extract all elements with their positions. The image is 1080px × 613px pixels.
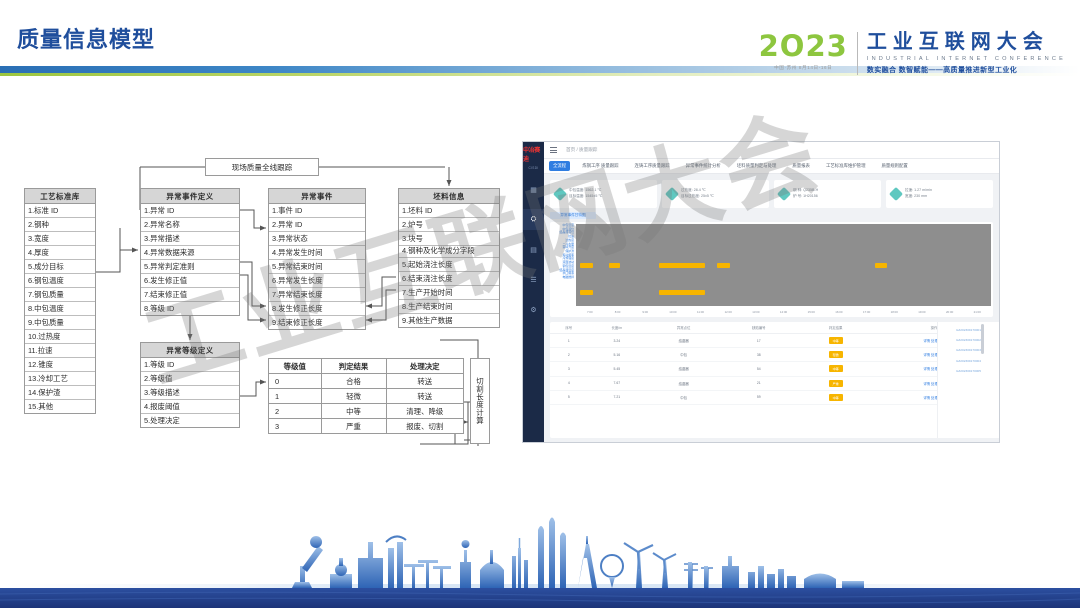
entity-process-standard-library: 工艺标准库 1.标准 ID 2.钢种 3.宽度 4.厚度 5.成分目标 6.钢包… bbox=[24, 188, 96, 414]
entity-row: 9.结束修正长度 bbox=[269, 316, 365, 329]
status-badge: 中等 bbox=[829, 365, 843, 372]
entity-row: 4.报废阈值 bbox=[141, 400, 239, 414]
logo-year-block: 2O23 中国·苏州 8月14日-16日 bbox=[759, 32, 857, 71]
list-item[interactable]: GZ202309170004 bbox=[940, 356, 997, 366]
page-title: 质量信息模型 bbox=[17, 22, 155, 54]
table-body: 13.24结晶器17中等详情 处理建议25.16中包38轻微详情 处理建议35.… bbox=[550, 334, 993, 405]
status-badge: 轻微 bbox=[829, 351, 843, 358]
cell-point: 结晶器 bbox=[646, 334, 721, 348]
cell-code: 54 bbox=[721, 362, 796, 376]
cell-code: 59 bbox=[721, 390, 796, 404]
skyline-graphic bbox=[0, 500, 1080, 608]
gantt-x-tick: 12:00 bbox=[714, 310, 742, 314]
cell-point: 结晶器 bbox=[646, 362, 721, 376]
status-badge: 中等 bbox=[829, 337, 843, 344]
cell-no: 3 bbox=[550, 362, 588, 376]
cell-point: 中包 bbox=[646, 390, 721, 404]
cell-result: 中等 bbox=[321, 404, 386, 419]
gantt-legend-badge: 异常事件甘特图 bbox=[550, 212, 596, 219]
gantt-x-tick: 7:00 bbox=[576, 310, 604, 314]
abnormal-events-table: 序号 长度/m 异常点位 缺陷编号 判定结果 操作 13.24结晶器17中等详情… bbox=[550, 322, 993, 438]
kpi-card: 中包温度: 1562.1 ℃ 目标温度: 1545±5 ℃ bbox=[550, 180, 657, 208]
entity-row: 7.生产开始时间 bbox=[399, 286, 499, 300]
table-row: 1 轻微 转送 bbox=[269, 389, 464, 404]
kpi-card: 钢 种: Q235B-H 炉 号: 1H20156 bbox=[774, 180, 881, 208]
logo-year: 2O23 bbox=[759, 32, 848, 61]
gantt-chart: 中包温度中包液位结晶器液位拉速过热度二冷水量塞棒开度保护渣振动频率冷却强度液面波… bbox=[550, 222, 993, 317]
cell-length: 7.21 bbox=[588, 390, 647, 404]
grade-decision-table: 等级值 判定结果 处理决定 0 合格 转送 1 轻微 转送 2 中等 清理、降级… bbox=[268, 358, 464, 434]
table-row: 3 严重 报废、切割 bbox=[269, 419, 464, 434]
column-header-no[interactable]: 序号 bbox=[550, 322, 588, 334]
gantt-bar[interactable] bbox=[659, 263, 705, 268]
cell-result: 轻微 bbox=[321, 389, 386, 404]
column-header: 判定结果 bbox=[321, 359, 386, 374]
cell-result: 中等 bbox=[796, 362, 875, 376]
entity-row: 3.异常状态 bbox=[269, 232, 365, 246]
cell-result: 轻微 bbox=[796, 348, 875, 362]
cell-point: 结晶器 bbox=[646, 376, 721, 390]
entity-row: 4.钢种及化学成分字段 bbox=[399, 246, 499, 258]
cell-result: 严重 bbox=[796, 376, 875, 390]
entity-row: 6.钢包温度 bbox=[25, 274, 95, 288]
cube-icon bbox=[553, 187, 567, 201]
entity-row: 9.中包质量 bbox=[25, 316, 95, 330]
entity-row: 15.其他 bbox=[25, 400, 95, 413]
cell-grade-value: 2 bbox=[269, 404, 322, 419]
entity-row: 4.异常数据来源 bbox=[141, 246, 239, 260]
gantt-bar[interactable] bbox=[609, 263, 619, 268]
entity-title: 异常事件定义 bbox=[141, 189, 239, 204]
tab-rule-config[interactable]: 质量规则配置 bbox=[877, 161, 911, 171]
entity-row: 3.等级描述 bbox=[141, 386, 239, 400]
cell-code: 38 bbox=[721, 348, 796, 362]
cell-point: 中包 bbox=[646, 348, 721, 362]
entity-row: 1.等级 ID bbox=[141, 358, 239, 372]
entity-title: 工艺标准库 bbox=[25, 189, 95, 204]
breadcrumb: 首页 / 质量跟踪 bbox=[566, 147, 597, 153]
cell-no: 5 bbox=[550, 390, 588, 404]
kpi-card-text: 过热度: 28.4 ℃ 目标过热度: 25±5 ℃ bbox=[681, 188, 714, 199]
table-row[interactable]: 25.16中包38轻微详情 处理建议 bbox=[550, 348, 993, 362]
list-item[interactable]: GZ202309170001 bbox=[940, 325, 997, 335]
entity-row: 3.宽度 bbox=[25, 232, 95, 246]
entity-abnormal-event: 异常事件 1.事件 ID 2.异常 ID 3.异常状态 4.异常发生时间 5.异… bbox=[268, 188, 366, 330]
panel-scrollbar[interactable] bbox=[981, 324, 984, 354]
gantt-y-axis: 中包温度中包液位结晶器液位拉速过热度二冷水量塞棒开度保护渣振动频率冷却强度液面波… bbox=[550, 222, 576, 317]
gantt-plot-area bbox=[576, 224, 991, 306]
app-logo: 中冶赛迪 bbox=[523, 142, 544, 166]
gantt-bar[interactable] bbox=[580, 263, 592, 268]
billet-id-list-panel: GZ202309170001 GZ202309170002 GZ20230917… bbox=[937, 322, 999, 438]
gantt-x-tick: 11:00 bbox=[687, 310, 715, 314]
app-logo-caption: CISDI bbox=[523, 166, 544, 170]
list-item[interactable]: GZ202309170003 bbox=[940, 345, 997, 355]
cell-result: 中等 bbox=[796, 390, 875, 404]
cell-result: 中等 bbox=[796, 334, 875, 348]
entity-abnormal-level-definition: 异常等级定义 1.等级 ID 2.等级值 3.等级描述 4.报废阈值 5.处理决… bbox=[140, 342, 240, 428]
logo-divider bbox=[857, 32, 858, 75]
gantt-x-tick: 20:00 bbox=[936, 310, 964, 314]
footer-skyline bbox=[0, 500, 1080, 608]
column-header-point[interactable]: 异常点位 bbox=[646, 322, 721, 334]
entity-row: 2.炉号 bbox=[399, 218, 499, 232]
logo-title-en: INDUSTRIAL INTERNET CONFERENCE bbox=[867, 56, 1066, 62]
gantt-bar[interactable] bbox=[580, 290, 592, 295]
app-sidebar: 中冶赛迪 CISDI ▦ ⛭ ▤ ☰ ⚙ bbox=[523, 142, 544, 442]
sidebar-gear-icon[interactable]: ⚙ bbox=[523, 299, 544, 320]
cell-no: 2 bbox=[550, 348, 588, 362]
column-header: 处理决定 bbox=[386, 359, 463, 374]
entity-row: 4.异常发生时间 bbox=[269, 246, 365, 260]
list-item[interactable]: GZ202309170005 bbox=[940, 366, 997, 376]
logo-place: 中国·苏州 8月14日-16日 bbox=[759, 65, 848, 71]
entity-row: 2.钢种 bbox=[25, 218, 95, 232]
app-tab-bar: 全流程 炼钢工序 质量跟踪 连铸工序质量跟踪 异常事件统计分析 坯料质量判定与处… bbox=[544, 159, 999, 174]
gantt-x-tick: 14:00 bbox=[770, 310, 798, 314]
entity-row: 1.异常 ID bbox=[141, 204, 239, 218]
gantt-x-tick: 8:00 bbox=[604, 310, 632, 314]
table-row: 2 中等 清理、降级 bbox=[269, 404, 464, 419]
entity-row: 1.事件 ID bbox=[269, 204, 365, 218]
entity-row: 5.异常判定准则 bbox=[141, 260, 239, 274]
application-screenshot: 中冶赛迪 CISDI ▦ ⛭ ▤ ☰ ⚙ 首页 / 质量跟踪 全流程 炼钢工序 … bbox=[522, 141, 1000, 443]
gantt-x-tick: 19:00 bbox=[908, 310, 936, 314]
entity-row: 6.异常发生长度 bbox=[269, 274, 365, 288]
entity-row: 8.中包温度 bbox=[25, 302, 95, 316]
entity-row: 14.保护渣 bbox=[25, 386, 95, 400]
entity-row: 2.异常 ID bbox=[269, 218, 365, 232]
entity-row: 12.锥度 bbox=[25, 358, 95, 372]
cell-no: 1 bbox=[550, 334, 588, 348]
gantt-x-tick: 15:00 bbox=[797, 310, 825, 314]
gantt-x-axis: 7:008:009:0010:0011:0012:0013:0014:0015:… bbox=[576, 307, 991, 317]
tab-billet-judgement[interactable]: 坯料质量判定与处理 bbox=[733, 161, 781, 171]
gantt-bar[interactable] bbox=[717, 263, 729, 268]
sidebar-factory-icon[interactable]: ⛭ bbox=[523, 209, 544, 230]
entity-row: 11.拉速 bbox=[25, 344, 95, 358]
entity-row: 2.异常名称 bbox=[141, 218, 239, 232]
gantt-x-tick: 16:00 bbox=[825, 310, 853, 314]
entity-row: 6.结束浇注长度 bbox=[399, 272, 499, 286]
quality-information-model-diagram: 现场质量全线跟踪 工艺标准库 1.标准 ID 2.钢种 3.宽度 4.厚度 5.… bbox=[0, 110, 520, 460]
site-quality-tracking-header: 现场质量全线跟踪 bbox=[205, 158, 319, 176]
entity-row: 8.生产结束时间 bbox=[399, 300, 499, 314]
cell-code: 17 bbox=[721, 334, 796, 348]
entity-row: 7.结束修正值 bbox=[141, 288, 239, 302]
sidebar-grid-icon[interactable]: ▦ bbox=[523, 179, 544, 200]
cube-icon bbox=[777, 187, 791, 201]
entity-row: 6.发生修正值 bbox=[141, 274, 239, 288]
entity-row: 3.异常描述 bbox=[141, 232, 239, 246]
entity-row: 1.坯料 ID bbox=[399, 204, 499, 218]
kpi-line-2: 目标温度: 1545±5 ℃ bbox=[569, 194, 602, 200]
kpi-card-text: 中包温度: 1562.1 ℃ 目标温度: 1545±5 ℃ bbox=[569, 188, 602, 199]
entity-row: 7.异常结束长度 bbox=[269, 288, 365, 302]
entity-billet-information: 坯料信息 1.坯料 ID 2.炉号 3.块号 4.钢种及化学成分字段 5.起始浇… bbox=[398, 188, 500, 328]
gantt-x-tick: 13:00 bbox=[742, 310, 770, 314]
entity-row: 5.异常结束时间 bbox=[269, 260, 365, 274]
gantt-bar[interactable] bbox=[875, 263, 887, 268]
entity-title: 坯料信息 bbox=[399, 189, 499, 204]
gantt-x-tick: 17:00 bbox=[853, 310, 881, 314]
cell-decision: 报废、切割 bbox=[386, 419, 463, 434]
table-row[interactable]: 35.45结晶器54中等详情 处理建议 bbox=[550, 362, 993, 376]
entity-row: 5.成分目标 bbox=[25, 260, 95, 274]
app-topbar: 首页 / 质量跟踪 bbox=[544, 142, 999, 159]
gantt-y-tick: 电磁搅拌 bbox=[550, 276, 576, 280]
entity-row: 2.等级值 bbox=[141, 372, 239, 386]
cell-grade-value: 1 bbox=[269, 389, 322, 404]
cell-no: 4 bbox=[550, 376, 588, 390]
cell-length: 5.16 bbox=[588, 348, 647, 362]
cell-decision: 清理、降级 bbox=[386, 404, 463, 419]
slide-header: 质量信息模型 2O23 中国·苏州 8月14日-16日 工业互联网大会 INDU… bbox=[0, 0, 1080, 96]
kpi-card: 拉速: 1.27 m/min 宽度: 230 mm bbox=[886, 180, 993, 208]
tab-steelmaking-quality[interactable]: 炼钢工序 质量跟踪 bbox=[578, 161, 622, 171]
sidebar-chart-icon[interactable]: ▤ bbox=[523, 239, 544, 260]
entity-row: 5.处理决定 bbox=[141, 414, 239, 427]
status-badge: 严重 bbox=[829, 380, 843, 387]
cell-decision: 转送 bbox=[386, 389, 463, 404]
cell-code: 21 bbox=[721, 376, 796, 390]
entity-row: 8.发生修正长度 bbox=[269, 302, 365, 316]
tab-quality-report[interactable]: 质量报表 bbox=[788, 161, 814, 171]
conference-logo: 2O23 中国·苏州 8月14日-16日 工业互联网大会 INDUSTRIAL … bbox=[759, 32, 1066, 75]
cut-length-calculation-box: 切割长度计算 bbox=[470, 358, 490, 444]
gantt-x-tick: 18:00 bbox=[880, 310, 908, 314]
entity-row: 5.起始浇注长度 bbox=[399, 258, 499, 272]
tab-casting-quality[interactable]: 连铸工序质量跟踪 bbox=[631, 161, 674, 171]
entity-row: 13.冷却工艺 bbox=[25, 372, 95, 386]
cell-grade-value: 3 bbox=[269, 419, 322, 434]
table: 序号 长度/m 异常点位 缺陷编号 判定结果 操作 13.24结晶器17中等详情… bbox=[550, 322, 993, 405]
table-header-row: 等级值 判定结果 处理决定 bbox=[269, 359, 464, 374]
kpi-line-2: 目标过热度: 25±5 ℃ bbox=[681, 194, 714, 200]
kpi-card-text: 钢 种: Q235B-H 炉 号: 1H20156 bbox=[793, 188, 818, 199]
cell-grade-value: 0 bbox=[269, 374, 322, 389]
kpi-card-text: 拉速: 1.27 m/min 宽度: 230 mm bbox=[905, 188, 932, 199]
entity-row: 4.厚度 bbox=[25, 246, 95, 260]
entity-row: 1.标准 ID bbox=[25, 204, 95, 218]
cube-icon bbox=[665, 187, 679, 201]
cell-result: 合格 bbox=[321, 374, 386, 389]
kpi-line-2: 宽度: 230 mm bbox=[905, 194, 932, 200]
cell-decision: 转送 bbox=[386, 374, 463, 389]
logo-text-block: 工业互联网大会 INDUSTRIAL INTERNET CONFERENCE 数… bbox=[867, 32, 1066, 75]
column-header-code[interactable]: 缺陷编号 bbox=[721, 322, 796, 334]
tab-abnormal-statistics[interactable]: 异常事件统计分析 bbox=[682, 161, 725, 171]
kpi-card: 过热度: 28.4 ℃ 目标过热度: 25±5 ℃ bbox=[662, 180, 769, 208]
gantt-x-tick: 10:00 bbox=[659, 310, 687, 314]
entity-abnormal-event-definition: 异常事件定义 1.异常 ID 2.异常名称 3.异常描述 4.异常数据来源 5.… bbox=[140, 188, 240, 316]
menu-toggle-icon[interactable] bbox=[550, 147, 557, 153]
tab-full-process[interactable]: 全流程 bbox=[549, 161, 570, 171]
table-header-row: 序号 长度/m 异常点位 缺陷编号 判定结果 操作 bbox=[550, 322, 993, 334]
table-row: 0 合格 转送 bbox=[269, 374, 464, 389]
entity-title: 异常事件 bbox=[269, 189, 365, 204]
list-item[interactable]: GZ202309170002 bbox=[940, 335, 997, 345]
column-header-length[interactable]: 长度/m bbox=[588, 322, 647, 334]
cell-length: 3.24 bbox=[588, 334, 647, 348]
cell-result: 严重 bbox=[321, 419, 386, 434]
kpi-line-2: 炉 号: 1H20156 bbox=[793, 194, 818, 200]
sidebar-list-icon[interactable]: ☰ bbox=[523, 269, 544, 290]
entity-row: 10.过热度 bbox=[25, 330, 95, 344]
entity-row: 9.其他生产数据 bbox=[399, 314, 499, 327]
gantt-x-tick: 21:00 bbox=[963, 310, 991, 314]
gantt-x-tick: 9:00 bbox=[631, 310, 659, 314]
column-header: 等级值 bbox=[269, 359, 322, 374]
entity-row: 3.块号 bbox=[399, 232, 499, 246]
cell-length: 7.67 bbox=[588, 376, 647, 390]
logo-title-cn: 工业互联网大会 bbox=[867, 32, 1066, 52]
tab-standard-library-mgmt[interactable]: 工艺标准库维护管理 bbox=[822, 161, 870, 171]
entity-title: 异常等级定义 bbox=[141, 343, 239, 358]
entity-row: 7.钢包质量 bbox=[25, 288, 95, 302]
status-badge: 中等 bbox=[829, 394, 843, 401]
table-row[interactable]: 13.24结晶器17中等详情 处理建议 bbox=[550, 334, 993, 348]
cell-length: 5.45 bbox=[588, 362, 647, 376]
table-row[interactable]: 57.21中包59中等详情 处理建议 bbox=[550, 390, 993, 404]
cube-icon bbox=[889, 187, 903, 201]
logo-subtitle-cn: 数实融合 数智赋能——高质量推进新型工业化 bbox=[867, 65, 1066, 75]
column-header-result[interactable]: 判定结果 bbox=[796, 322, 875, 334]
entity-row: 8.等级 ID bbox=[141, 302, 239, 315]
gantt-bar[interactable] bbox=[659, 290, 705, 295]
kpi-card-row: 中包温度: 1562.1 ℃ 目标温度: 1545±5 ℃ 过热度: 28.4 … bbox=[550, 180, 993, 208]
table-row[interactable]: 47.67结晶器21严重详情 处理建议 bbox=[550, 376, 993, 390]
